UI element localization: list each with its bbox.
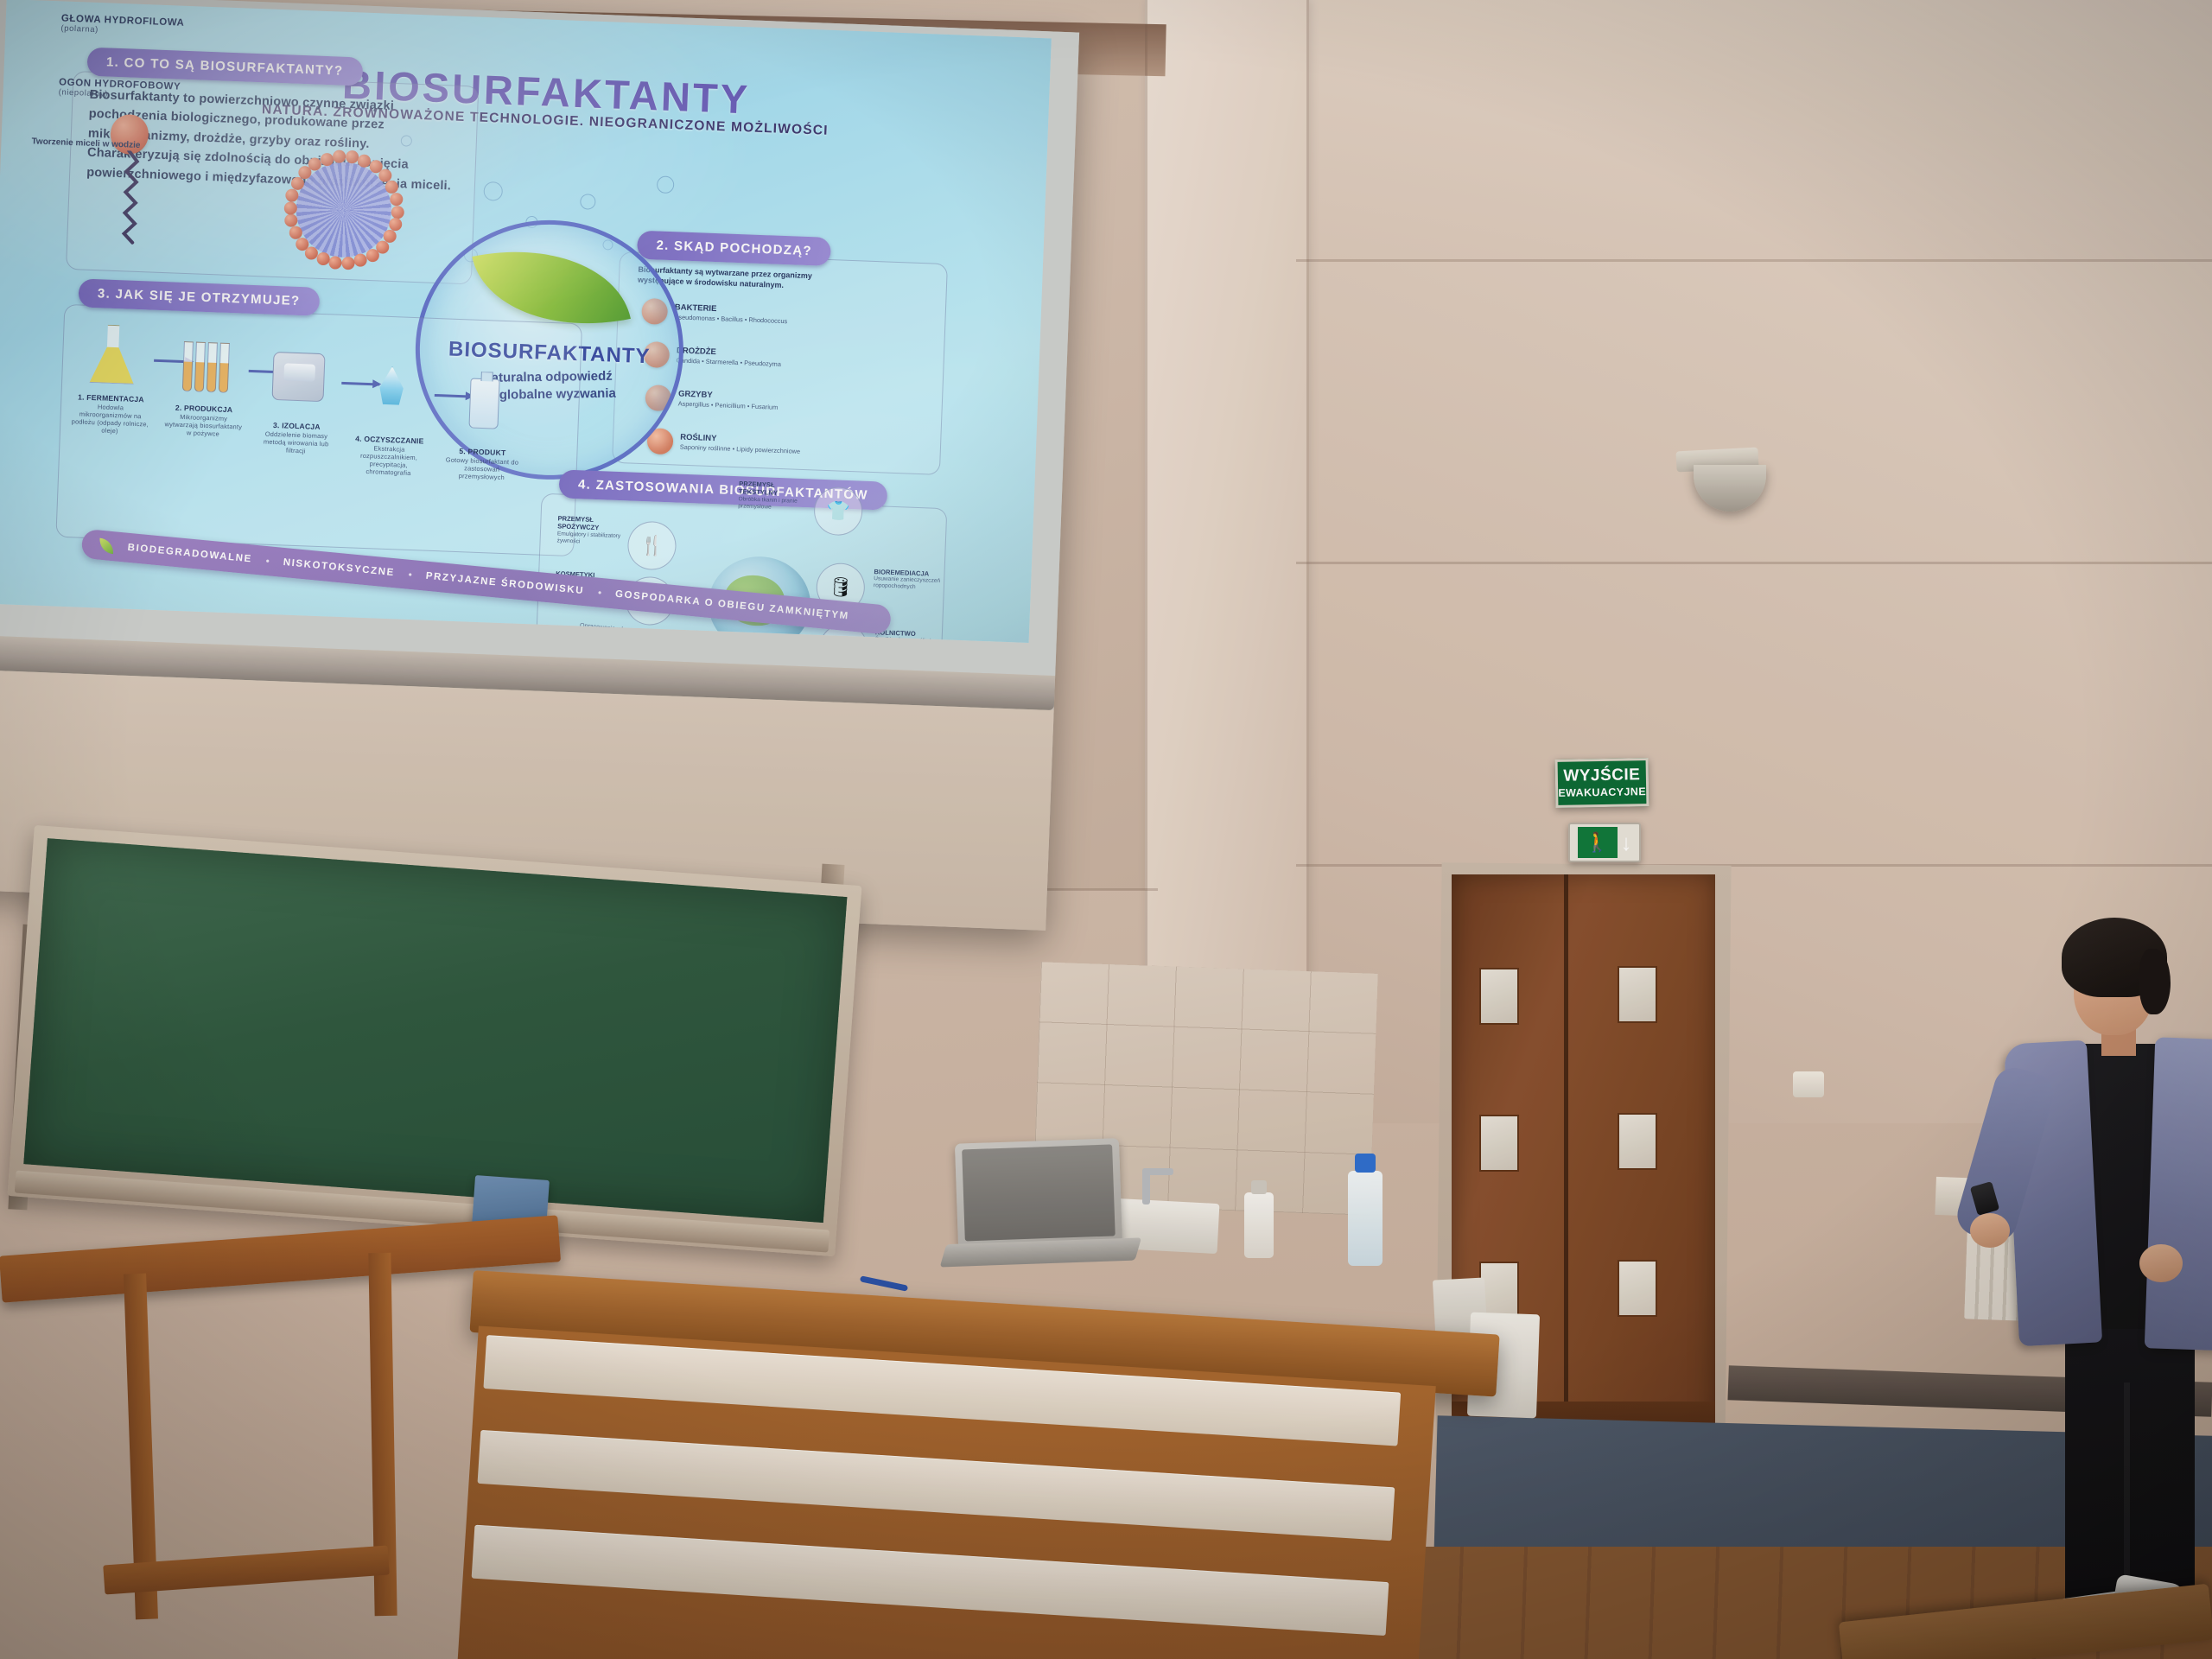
wall-corner-edge [1145,0,1147,1080]
process-step-desc: Ekstrakcja rozpuszczalnikiem, precypitac… [348,443,429,478]
wall-corner-column [1145,0,1309,1080]
projection-screen: BIOSURFAKTANTY NATURA. ZRÓWNOWAŻONE TECH… [0,0,1096,949]
source-items: Candida • Starmerella • Pseudozyma [676,357,781,369]
micelle-diagram-icon [282,148,405,271]
application-caption: PRZEMYSŁ SPOŻYWCZY Emulgatory i stabiliz… [556,514,625,546]
laptop-screen [955,1138,1122,1248]
test-tubes-icon [177,334,234,393]
process-step: 2. PRODUKCJA Mikroorganizmy wytwarzają b… [163,334,246,439]
bottle-cap [1355,1154,1376,1173]
door-glass-panel [1618,966,1657,1023]
application-label: PRZEMYSŁ TEKSTYLNY [739,480,778,497]
source-text: GRZYBY Aspergillus • Penicillium • Fusar… [677,390,778,411]
lecture-hall-photo: BIOSURFAKTANTY NATURA. ZRÓWNOWAŻONE TECH… [0,0,2212,1659]
leaf-badge-icon [99,537,115,554]
wall-right-upper [1296,0,2212,285]
trousers [2065,1305,2195,1607]
micelle-bead [284,214,298,228]
down-arrow-icon: ↓ [1621,831,1632,854]
exit-sign-line-1: WYJŚCIE [1563,766,1640,785]
wall-seam [1296,562,2212,564]
surfactant-molecule-icon [99,113,233,265]
chalkboard-surface [23,838,847,1223]
hair-side [2139,949,2171,1014]
presentation-slide: BIOSURFAKTANTY NATURA. ZRÓWNOWAŻONE TECH… [0,0,1052,643]
droplet-icon [375,365,408,408]
process-step-caption: 1. FERMENTACJA Hodowla mikroorganizmów n… [70,392,151,436]
banner-tag: PRZYJAZNE ŚRODOWISKU [425,571,584,596]
micelle-bead [333,149,346,163]
application-label: PRZEMYSŁ SPOŻYWCZY [557,514,599,531]
leg-separation [2124,1382,2130,1599]
micelle-bead [354,254,368,268]
hand-right [2139,1244,2183,1282]
process-step-caption: 5. PRODUKT Gotowy biosurfaktant do zasto… [442,446,522,482]
banner-tag: BIODEGRADOWALNE [127,543,252,565]
hand-left [1970,1213,2010,1248]
flask-icon [87,324,138,385]
bottle-icon [468,378,499,429]
micelle-bead [283,201,297,215]
door-glass-panel [1618,1113,1657,1170]
exit-sign-line-2: EWAKUACYJNE [1558,785,1646,799]
application-caption: PRZEMYSŁ TEKSTYLNY Obróbka tkanin i pran… [738,480,806,512]
application-sub: Usuwanie zanieczyszczeń ropopochodnych [874,575,942,592]
laptop[interactable] [939,1137,1160,1300]
soap-dispenser [1244,1192,1274,1258]
application-label: PRODUKTY CZYSZCZĄCE [553,625,597,642]
application-sub: Środki ochrony roślin i biostymulatory [874,637,943,643]
door-glass-panel [1479,1115,1519,1172]
process-step: 4. OCZYSZCZANIE Ekstrakcja rozpuszczalni… [348,358,432,478]
source-text: BAKTERIE Pseudomonas • Bacillus • Rhodoc… [674,303,788,326]
light-switch[interactable] [1793,1071,1824,1097]
hydrophobic-tail-icon [118,150,156,264]
banner-separator: • [408,569,413,581]
micelle-bead [341,257,355,270]
application-sub: Emulgatory i stabilizatory żywności [556,531,625,547]
micelle-bead [391,205,404,219]
door-center-split [1564,874,1568,1455]
screen-surface: BIOSURFAKTANTY NATURA. ZRÓWNOWAŻONE TECH… [0,0,1079,676]
water-bottle [1348,1171,1382,1266]
micelle-bead [385,180,399,194]
source-name: GRZYBY [678,390,713,400]
door-glass-panel [1618,1260,1657,1317]
process-step: 5. PRODUKT Gotowy biosurfaktant do zasto… [442,370,525,482]
presenter [1970,899,2212,1659]
source-text: ROŚLINY Saponiny roślinne • Lipidy powie… [680,433,801,455]
source-name: ROŚLINY [680,433,717,444]
wall-corner-edge [1306,0,1309,1123]
emergency-exit-lamp: 🚶 ↓ [1568,823,1641,862]
running-man-icon: 🚶 [1578,827,1618,858]
jacket-right-panel [2145,1037,2212,1351]
process-step: 1. FERMENTACJA Hodowla mikroorganizmów n… [70,323,154,436]
process-step-desc: Mikroorganizmy wytwarzają biosurfaktanty… [163,412,244,439]
micelle-bead [296,237,309,251]
centrifuge-icon [271,352,325,402]
application-caption: BIOREMEDIACJA Usuwanie zanieczyszczeń ro… [874,568,942,592]
source-items: Pseudomonas • Bacillus • Rhodococcus [674,314,787,326]
wall-seam [1296,864,2212,867]
banner-separator: • [597,587,602,599]
source-items: Saponiny roślinne • Lipidy powierzchniow… [680,443,801,455]
banner-separator: • [265,555,270,567]
micelle-bead [316,252,330,266]
micelle-bead [390,193,404,207]
process-step: 3. IZOLACJA Oddzielenie biomasy metodą w… [256,346,340,456]
bubble-icon [580,194,596,210]
bubble-icon [657,175,675,194]
banner-tag: NISKOTOKSYCZNE [283,557,395,578]
application-sub: Ekologiczne detergenty i środki myjące [553,641,621,643]
source-text: DROŻDŻE Candida • Starmerella • Pseudozy… [676,346,781,369]
process-step-caption: 4. OCZYSZCZANIE Ekstrakcja rozpuszczalni… [348,434,429,478]
wall-seam [1296,259,2212,262]
process-step-desc: Oddzielenie biomasy metodą wirowania lub… [256,429,336,456]
process-step-desc: Gotowy biosurfaktant do zastosowań przem… [442,455,522,482]
application-caption: PRODUKTY CZYSZCZĄCE Ekologiczne detergen… [553,625,621,643]
process-step-desc: Hodowla mikroorganizmów na podłożu (odpa… [70,402,150,436]
process-step-caption: 2. PRODUKCJA Mikroorganizmy wytwarzają b… [163,403,244,439]
source-items: Aspergillus • Penicillium • Fusarium [677,400,778,412]
emergency-exit-sign: WYJŚCIE EWAKUACYJNE [1555,758,1649,808]
green-chalkboard [8,825,862,1256]
micelle-bead [365,248,379,262]
application-sub: Obróbka tkanin i pranie przemysłowe [738,496,806,512]
micelle-bead [320,152,334,166]
micelle-bead [328,256,342,270]
lecture-desk [448,1270,1509,1659]
process-step-caption: 3. IZOLACJA Oddzielenie biomasy metodą w… [256,420,336,456]
bubble-icon [483,181,503,201]
hydrophilic-head-label: GŁOWA HYDROFILOWA (polarna) [60,13,184,37]
micelle-bead [346,150,359,164]
door-glass-panel [1479,968,1519,1025]
